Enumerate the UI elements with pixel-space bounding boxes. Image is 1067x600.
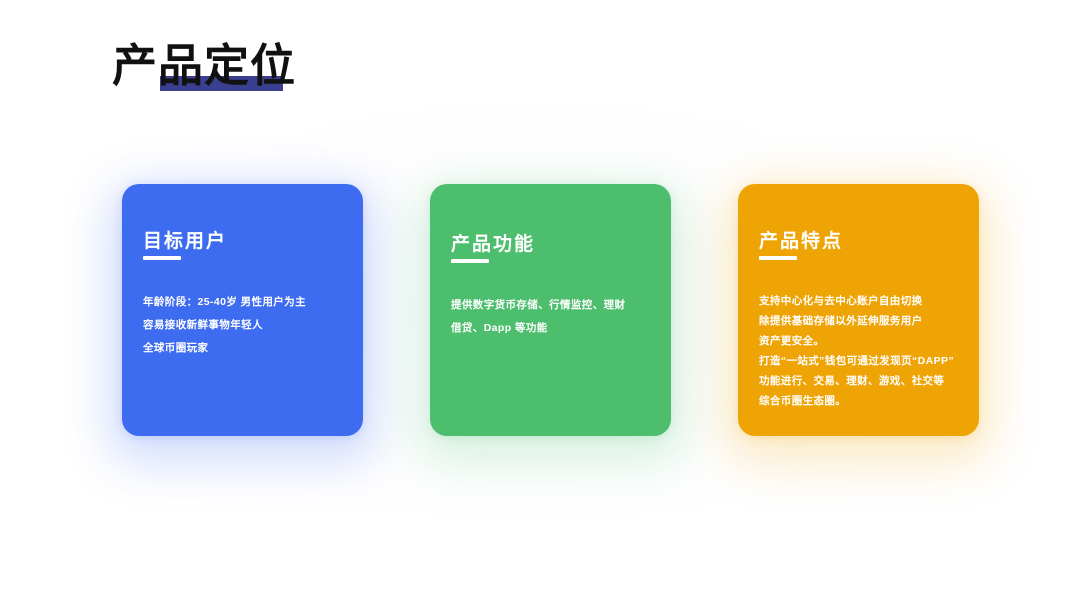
card-body-line: 资产更安全。 (759, 331, 967, 351)
card-body-target-user: 年龄阶段：25-40岁 男性用户为主 容易接收新鲜事物年轻人 全球币圈玩家 (143, 291, 351, 360)
card-body-line: 综合币圈生态圈。 (759, 391, 967, 411)
page-title: 产品定位 (112, 38, 296, 96)
card-product-function[interactable]: 产品功能 提供数字货币存储、行情监控、理财 借贷、Dapp 等功能 (430, 184, 671, 436)
card-body-line: 除提供基础存储以外延伸服务用户 (759, 311, 967, 331)
card-underline-target-user (143, 256, 181, 260)
card-target-user[interactable]: 目标用户 年龄阶段：25-40岁 男性用户为主 容易接收新鲜事物年轻人 全球币圈… (122, 184, 363, 436)
card-heading-product-function: 产品功能 (451, 229, 535, 256)
card-body-line: 容易接收新鲜事物年轻人 (143, 314, 351, 337)
card-body-line: 全球币圈玩家 (143, 337, 351, 360)
card-body-line: 打造“一站式”钱包可通过发现页“DAPP” (759, 351, 967, 371)
card-body-product-function: 提供数字货币存储、行情监控、理财 借贷、Dapp 等功能 (451, 294, 659, 340)
card-body-line: 提供数字货币存储、行情监控、理财 (451, 294, 659, 317)
page-title-text: 产品定位 (112, 38, 296, 94)
card-body-line: 借贷、Dapp 等功能 (451, 317, 659, 340)
card-body-line: 功能进行、交易、理财、游戏、社交等 (759, 371, 967, 391)
card-row: 目标用户 年龄阶段：25-40岁 男性用户为主 容易接收新鲜事物年轻人 全球币圈… (122, 184, 982, 436)
card-body-line: 年龄阶段：25-40岁 男性用户为主 (143, 291, 351, 314)
card-body-product-feature: 支持中心化与去中心账户自由切换 除提供基础存储以外延伸服务用户 资产更安全。 打… (759, 291, 967, 411)
card-body-line: 支持中心化与去中心账户自由切换 (759, 291, 967, 311)
card-heading-product-feature: 产品特点 (759, 226, 843, 253)
card-heading-target-user: 目标用户 (143, 226, 227, 253)
card-underline-product-function (451, 259, 489, 263)
card-product-feature[interactable]: 产品特点 支持中心化与去中心账户自由切换 除提供基础存储以外延伸服务用户 资产更… (738, 184, 979, 436)
slide-canvas: 产品定位 目标用户 年龄阶段：25-40岁 男性用户为主 容易接收新鲜事物年轻人… (0, 0, 1067, 600)
card-underline-product-feature (759, 256, 797, 260)
